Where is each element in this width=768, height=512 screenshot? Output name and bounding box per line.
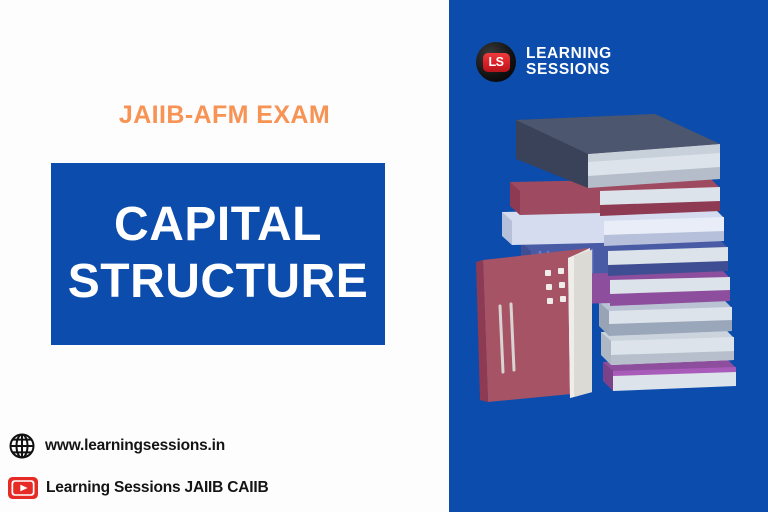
brand-logo: LS LEARNING SESSIONS bbox=[476, 42, 612, 82]
globe-icon bbox=[8, 432, 36, 460]
youtube-icon bbox=[8, 477, 38, 499]
ls-badge-text: LS bbox=[489, 56, 504, 69]
book-stack-illustration bbox=[470, 110, 755, 405]
book-leaning-maroon bbox=[476, 248, 592, 402]
exam-label: JAIIB-AFM EXAM bbox=[0, 101, 449, 130]
book-top-navy bbox=[516, 114, 720, 188]
page-title-line-2: STRUCTURE bbox=[68, 254, 369, 311]
ls-badge-icon: LS bbox=[476, 42, 516, 82]
poster-canvas: LS LEARNING SESSIONS bbox=[0, 0, 768, 512]
website-label: www.learningsessions.in bbox=[45, 437, 225, 455]
footer-youtube-row[interactable]: Learning Sessions JAIIB CAIIB bbox=[0, 467, 449, 509]
page-title-line-1: CAPITAL bbox=[114, 197, 322, 254]
title-box: CAPITAL STRUCTURE bbox=[51, 163, 385, 345]
brand-name-line-2: SESSIONS bbox=[526, 62, 612, 78]
ls-badge-inner: LS bbox=[483, 53, 510, 72]
youtube-channel-label: Learning Sessions JAIIB CAIIB bbox=[46, 479, 268, 497]
brand-name-line-1: LEARNING bbox=[526, 46, 612, 62]
brand-name: LEARNING SESSIONS bbox=[526, 46, 612, 78]
footer: www.learningsessions.in Learning Session… bbox=[0, 425, 449, 509]
footer-website-row[interactable]: www.learningsessions.in bbox=[0, 425, 449, 467]
